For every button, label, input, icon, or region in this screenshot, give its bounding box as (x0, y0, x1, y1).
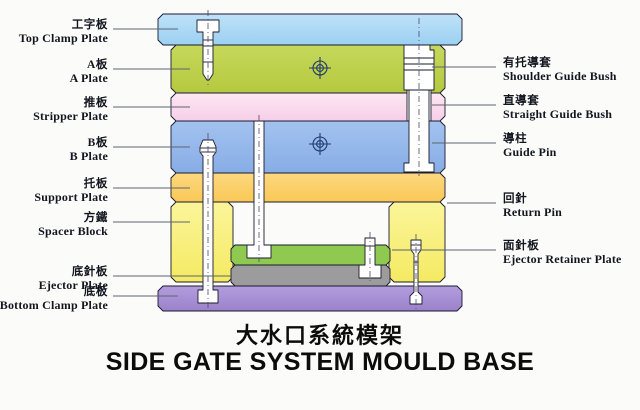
label-en: Ejector Retainer Plate (503, 253, 622, 265)
label-straight-guide-bush: 直導套 Straight Guide Bush (503, 96, 612, 120)
label-top-clamp-plate: 工字板 Top Clamp Plate (19, 20, 108, 44)
label-shoulder-guide-bush: 有托導套 Shoulder Guide Bush (503, 58, 617, 82)
label-stripper-plate: 推板 Stripper Plate (33, 98, 108, 122)
label-en: Stripper Plate (33, 110, 108, 122)
label-en: Return Pin (503, 206, 562, 218)
label-bottom-clamp-plate: 底板 Bottom Clamp Plate (0, 287, 108, 311)
part-spacer-block-left (171, 202, 233, 282)
part-stripper-plate (171, 93, 445, 121)
title-chinese: 大水口系統模架 (0, 318, 640, 350)
label-en: B Plate (70, 150, 108, 162)
title-english: SIDE GATE SYSTEM MOULD BASE (0, 348, 640, 377)
label-en: A Plate (70, 72, 108, 84)
label-en: Top Clamp Plate (19, 32, 108, 44)
label-support-plate: 托板 Support Plate (34, 179, 108, 203)
label-en: Shoulder Guide Bush (503, 70, 617, 82)
mould-base-diagram: 工字板 Top Clamp Plate A板 A Plate 推板 Stripp… (0, 0, 640, 410)
label-b-plate: B板 B Plate (70, 138, 108, 162)
label-en: Straight Guide Bush (503, 108, 612, 120)
label-a-plate: A板 A Plate (70, 60, 108, 84)
label-guide-pin: 導柱 Guide Pin (503, 134, 556, 158)
label-en: Spacer Block (38, 225, 108, 237)
label-en: Guide Pin (503, 146, 556, 158)
label-return-pin: 回針 Return Pin (503, 194, 562, 218)
label-en: Support Plate (34, 191, 108, 203)
label-en: Bottom Clamp Plate (0, 299, 108, 311)
label-spacer-block: 方鐵 Spacer Block (38, 213, 108, 237)
label-ejector-retainer-plate: 面針板 Ejector Retainer Plate (503, 241, 622, 265)
